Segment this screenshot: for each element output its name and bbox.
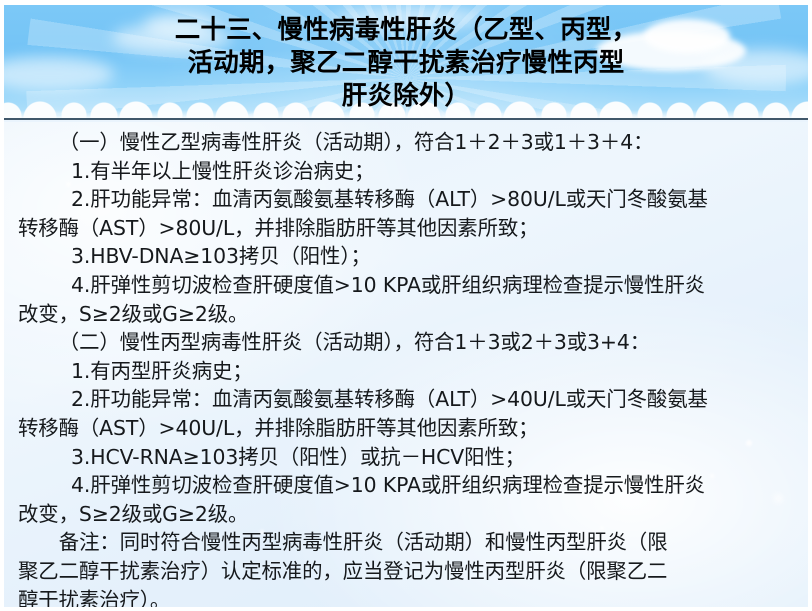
slide-frame-right [808, 0, 812, 611]
body-line: 备注：同时符合慢性丙型病毒性肝炎（活动期）和慢性丙型肝炎（限 [18, 528, 794, 557]
body-line: 1.有丙型肝炎病史； [18, 357, 794, 386]
title-banner: 二十三、慢性病毒性肝炎（乙型、丙型， 活动期，聚乙二醇干扰素治疗慢性丙型 肝炎除… [4, 5, 808, 120]
body-line: 3.HBV-DNA≥103拷贝（阳性）； [18, 242, 794, 271]
body-line: 转移酶（AST）>40U/L，并排除脂肪肝等其他因素所致； [18, 414, 794, 443]
slide-frame-left [0, 0, 4, 611]
body-line: （一）慢性乙型病毒性肝炎（活动期），符合1＋2＋3或1＋3＋4： [18, 128, 794, 157]
body-line: 4.肝弹性剪切波检查肝硬度值>10 KPA或肝组织病理检查提示慢性肝炎 [18, 471, 794, 500]
body-line: 聚乙二醇干扰素治疗）认定标准的，应当登记为慢性丙型肝炎（限聚乙二 [18, 557, 794, 586]
body-line: 2.肝功能异常：血清丙氨酸氨基转移酶（ALT）>80U/L或天门冬酸氨基 [18, 185, 794, 214]
slide-frame-top [0, 0, 812, 5]
body-line: 2.肝功能异常：血清丙氨酸氨基转移酶（ALT）>40U/L或天门冬酸氨基 [18, 385, 794, 414]
body-line: 3.HCV-RNA≥103拷贝（阳性）或抗－HCV阳性； [18, 443, 794, 472]
body-line: 改变，S≥2级或G≥2级。 [18, 300, 794, 329]
slide-body: （一）慢性乙型病毒性肝炎（活动期），符合1＋2＋3或1＋3＋4：1.有半年以上慢… [4, 122, 808, 607]
body-line: （二）慢性丙型病毒性肝炎（活动期），符合1＋3或2＋3或3+4： [18, 328, 794, 357]
body-line: 4.肝弹性剪切波检查肝硬度值>10 KPA或肝组织病理检查提示慢性肝炎 [18, 271, 794, 300]
slide-root: 二十三、慢性病毒性肝炎（乙型、丙型， 活动期，聚乙二醇干扰素治疗慢性丙型 肝炎除… [0, 0, 812, 611]
page-title: 二十三、慢性病毒性肝炎（乙型、丙型， 活动期，聚乙二醇干扰素治疗慢性丙型 肝炎除… [4, 5, 808, 113]
body-line: 1.有半年以上慢性肝炎诊治病史； [18, 157, 794, 186]
body-text-block: （一）慢性乙型病毒性肝炎（活动期），符合1＋2＋3或1＋3＋4：1.有半年以上慢… [4, 122, 808, 607]
slide-frame-bottom [0, 607, 812, 611]
body-line: 醇干扰素治疗）。 [18, 586, 794, 608]
body-line: 改变，S≥2级或G≥2级。 [18, 500, 794, 529]
body-line: 转移酶（AST）>80U/L，并排除脂肪肝等其他因素所致； [18, 214, 794, 243]
